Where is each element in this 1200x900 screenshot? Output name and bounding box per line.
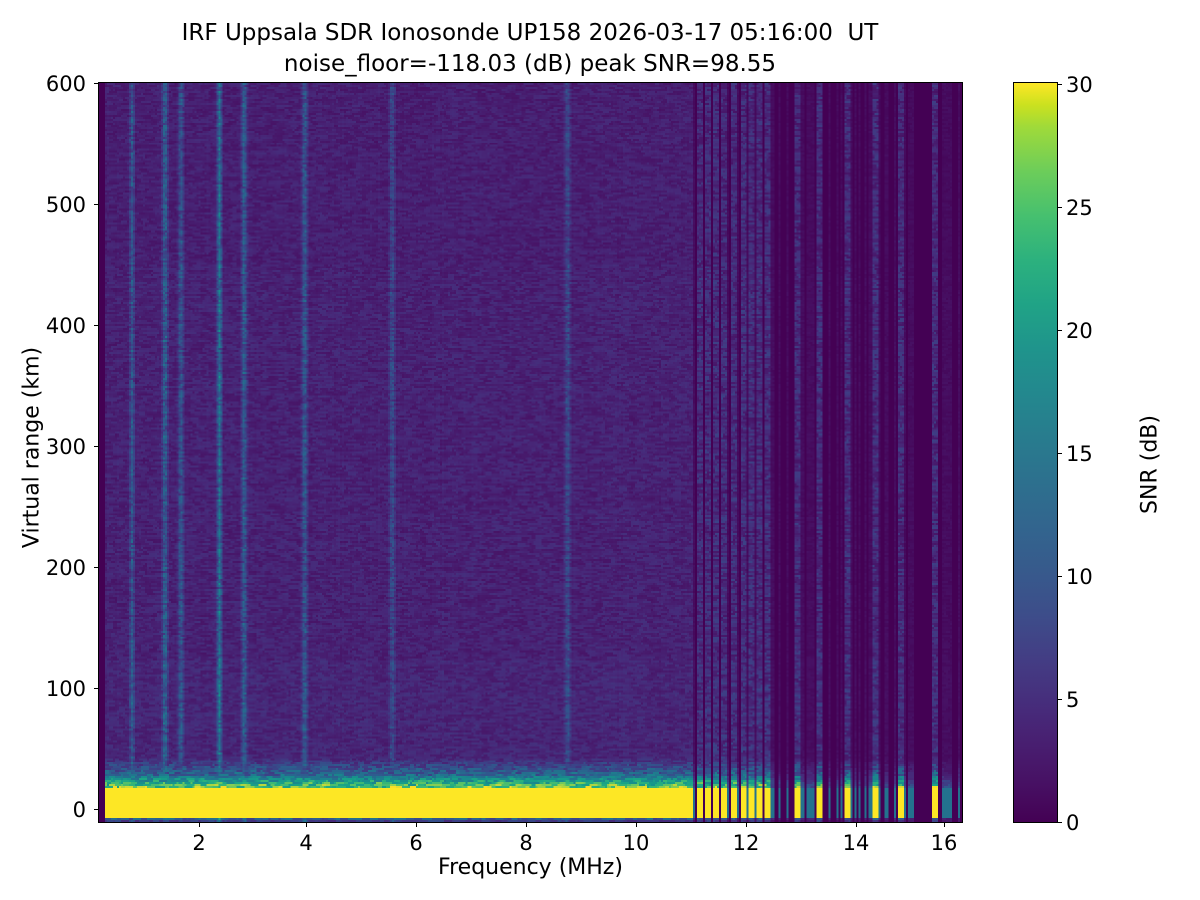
- xtick-mark: [636, 823, 637, 827]
- figure-title: IRF Uppsala SDR Ionosonde UP158 2026-03-…: [0, 18, 1060, 80]
- ytick-mark: [94, 325, 98, 326]
- ytick-mark: [94, 567, 98, 568]
- colorbar-tick-label: 0: [1066, 811, 1079, 835]
- colorbar-tick-label: 25: [1066, 196, 1093, 220]
- xtick-label: 16: [914, 831, 974, 855]
- ionogram-plot-area: [98, 82, 963, 823]
- ytick-mark: [94, 83, 98, 84]
- ytick-mark: [94, 204, 98, 205]
- colorbar-tick-label: 30: [1066, 73, 1093, 97]
- colorbar-tick-label: 10: [1066, 565, 1093, 589]
- xtick-mark: [746, 823, 747, 827]
- ytick-label: 600: [0, 72, 86, 96]
- xtick-label: 6: [386, 831, 446, 855]
- colorbar-label: SNR (dB): [1138, 315, 1163, 615]
- ionogram-figure: IRF Uppsala SDR Ionosonde UP158 2026-03-…: [0, 0, 1200, 900]
- colorbar-tick-mark: [1058, 207, 1062, 208]
- y-axis-label: Virtual range (km): [20, 248, 45, 648]
- xtick-mark: [856, 823, 857, 827]
- colorbar-tick-mark: [1058, 699, 1062, 700]
- xtick-mark: [199, 823, 200, 827]
- ytick-mark: [94, 688, 98, 689]
- xtick-label: 2: [169, 831, 229, 855]
- snr-colorbar: [1013, 82, 1058, 823]
- ytick-mark: [94, 446, 98, 447]
- title-line-1: IRF Uppsala SDR Ionosonde UP158 2026-03-…: [0, 18, 1060, 49]
- xtick-label: 4: [276, 831, 336, 855]
- x-axis-label: Frequency (MHz): [98, 855, 963, 880]
- colorbar-tick-mark: [1058, 453, 1062, 454]
- xtick-mark: [526, 823, 527, 827]
- xtick-label: 8: [496, 831, 556, 855]
- xtick-mark: [306, 823, 307, 827]
- ytick-label: 100: [0, 677, 86, 701]
- ytick-mark: [94, 809, 98, 810]
- title-line-2: noise_floor=-118.03 (dB) peak SNR=98.55: [0, 49, 1060, 80]
- colorbar-tick-mark: [1058, 576, 1062, 577]
- colorbar-tick-label: 5: [1066, 688, 1079, 712]
- xtick-mark: [416, 823, 417, 827]
- ytick-label: 0: [0, 798, 86, 822]
- colorbar-tick-mark: [1058, 330, 1062, 331]
- colorbar-tick-label: 15: [1066, 442, 1093, 466]
- xtick-mark: [944, 823, 945, 827]
- colorbar-tick-label: 20: [1066, 319, 1093, 343]
- ytick-label: 500: [0, 193, 86, 217]
- xtick-label: 14: [826, 831, 886, 855]
- xtick-label: 10: [606, 831, 666, 855]
- ionogram-heatmap: [99, 83, 962, 822]
- colorbar-tick-mark: [1058, 84, 1062, 85]
- colorbar-tick-mark: [1058, 822, 1062, 823]
- xtick-label: 12: [716, 831, 776, 855]
